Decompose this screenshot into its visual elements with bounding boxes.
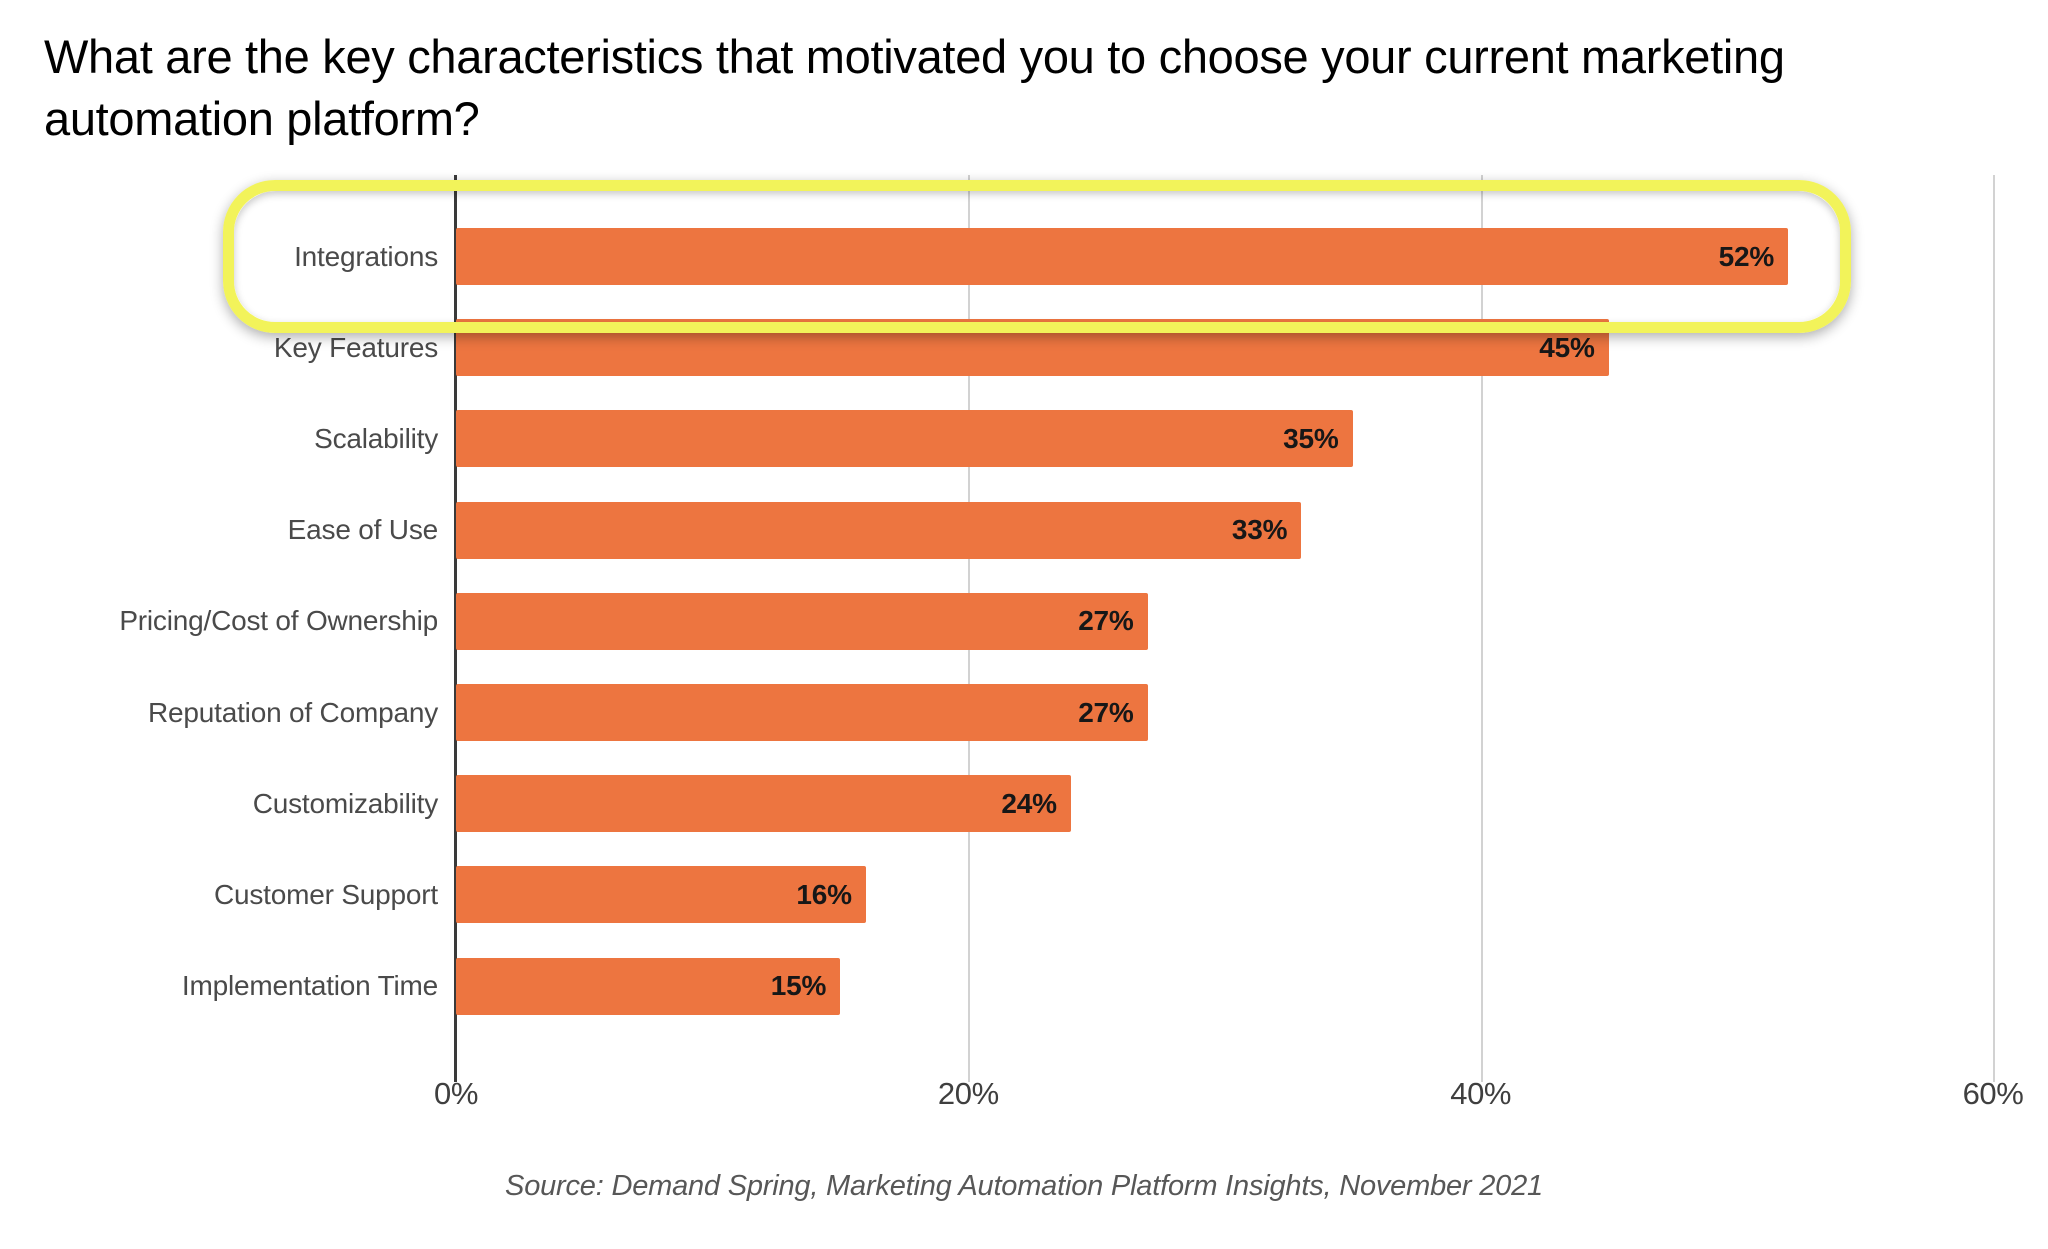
bar: 27%	[456, 684, 1148, 741]
category-label: Customizability	[0, 788, 438, 820]
bar-row: Implementation Time15%	[456, 958, 840, 1015]
bar: 16%	[456, 866, 866, 923]
bar-value-label: 27%	[1078, 697, 1133, 729]
category-label: Integrations	[0, 241, 438, 273]
x-tick-label: 20%	[938, 1076, 999, 1112]
x-tick-label: 0%	[434, 1076, 478, 1112]
category-label: Ease of Use	[0, 514, 438, 546]
category-label: Implementation Time	[0, 970, 438, 1002]
bar-chart: Integrations52%Key Features45%Scalabilit…	[0, 0, 2048, 1249]
bar: 33%	[456, 502, 1301, 559]
bar: 15%	[456, 958, 840, 1015]
category-label: Reputation of Company	[0, 697, 438, 729]
category-label: Customer Support	[0, 879, 438, 911]
bar-row: Pricing/Cost of Ownership27%	[456, 593, 1148, 650]
gridline-60%	[1993, 175, 1995, 1082]
bar-row: Reputation of Company27%	[456, 684, 1148, 741]
category-label: Scalability	[0, 423, 438, 455]
bar-row: Customizability24%	[456, 775, 1071, 832]
bar-value-label: 15%	[771, 970, 826, 1002]
bar: 45%	[456, 319, 1609, 376]
bar-value-label: 35%	[1283, 423, 1338, 455]
bar-row: Integrations52%	[456, 228, 1788, 285]
bar-value-label: 16%	[796, 879, 851, 911]
bar: 27%	[456, 593, 1148, 650]
x-tick-label: 60%	[1963, 1076, 2024, 1112]
bar: 52%	[456, 228, 1788, 285]
gridline-40%	[1481, 175, 1483, 1082]
bar-value-label: 45%	[1539, 332, 1594, 364]
bar-value-label: 27%	[1078, 605, 1133, 637]
bar-value-label: 33%	[1232, 514, 1287, 546]
bar-row: Key Features45%	[456, 319, 1609, 376]
bar: 24%	[456, 775, 1071, 832]
bar-row: Customer Support16%	[456, 866, 866, 923]
category-label: Key Features	[0, 332, 438, 364]
bar-row: Ease of Use33%	[456, 502, 1301, 559]
category-label: Pricing/Cost of Ownership	[0, 605, 438, 637]
bar-value-label: 24%	[1001, 788, 1056, 820]
bar-row: Scalability35%	[456, 410, 1353, 467]
source-note: Source: Demand Spring, Marketing Automat…	[0, 1170, 2048, 1203]
bar-value-label: 52%	[1719, 241, 1774, 273]
bar: 35%	[456, 410, 1353, 467]
x-tick-label: 40%	[1450, 1076, 1511, 1112]
